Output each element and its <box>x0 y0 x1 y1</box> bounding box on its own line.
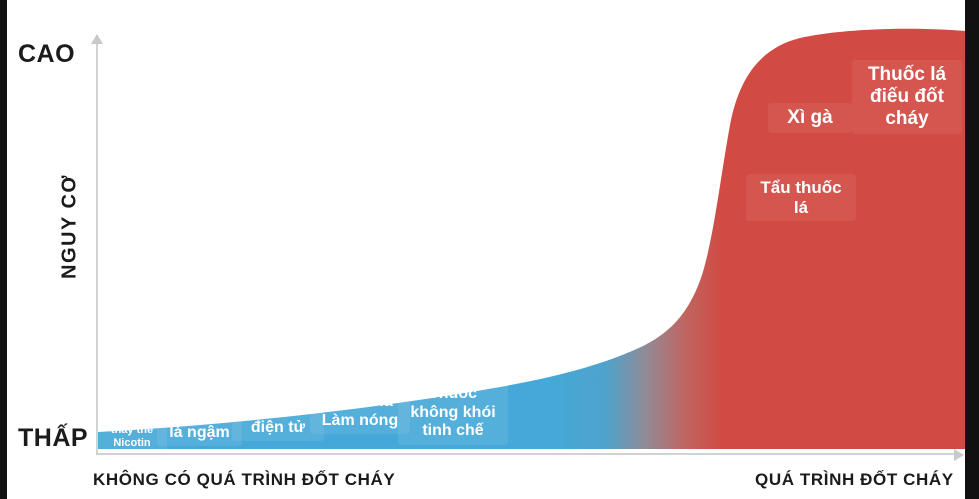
y-axis-low-label: THẤP <box>18 424 88 453</box>
product-label-high_risk-2: Thuốc lá điếu đốt cháy <box>852 60 962 134</box>
y-axis-title: NGUY CƠ <box>59 152 82 302</box>
x-axis-right-caption: QUÁ TRÌNH ĐỐT CHÁY <box>755 470 954 490</box>
product-label-high_risk-0: Tẩu thuốc lá <box>746 174 856 221</box>
x-axis-line <box>96 453 956 455</box>
y-axis-high-label: CAO <box>18 40 75 69</box>
x-axis-left-caption: KHÔNG CÓ QUÁ TRÌNH ĐỐT CHÁY <box>93 470 395 490</box>
y-axis-line <box>96 42 98 454</box>
product-label-low_risk-4: Thuốc không khói tinh chế <box>398 381 508 445</box>
page-edge-right <box>965 0 979 499</box>
product-label-low_risk-3: Thuốc lá Làm nóng <box>310 389 410 434</box>
product-label-low_risk-1: Thuốc lá ngậm <box>157 401 242 446</box>
product-label-high_risk-1: Xì gà <box>768 103 852 133</box>
risk-area-path <box>98 29 965 449</box>
x-axis-arrow-icon <box>954 449 964 461</box>
y-axis-arrow-icon <box>91 34 103 44</box>
risk-continuum-chart: CAO THẤP NGUY CƠ KHÔNG CÓ QUÁ TRÌNH ĐỐT … <box>0 0 979 499</box>
page-edge-left <box>0 0 7 499</box>
